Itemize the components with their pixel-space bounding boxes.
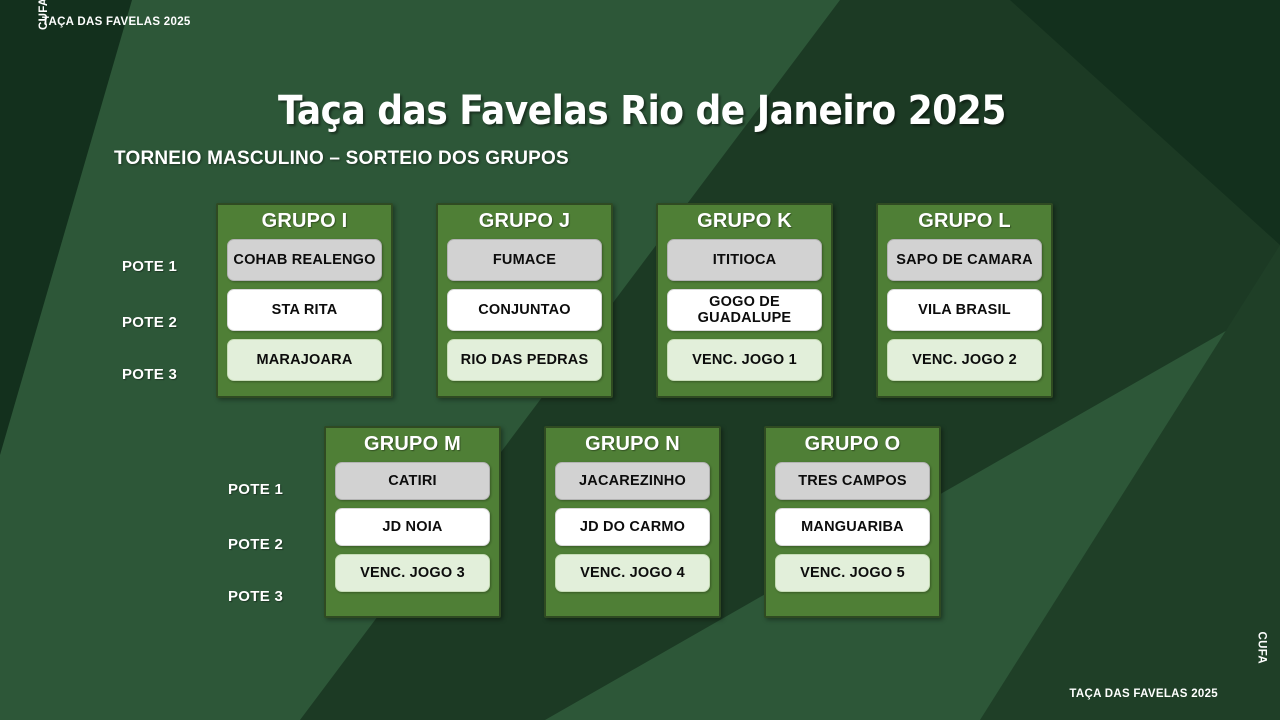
team-chip-m-pot1[interactable]: CATIRI — [335, 462, 490, 500]
team-chip-l-pot3[interactable]: VENC. JOGO 2 — [887, 339, 1042, 381]
team-chip-m-pot2[interactable]: JD NOIA — [335, 508, 490, 546]
pote-label-row1-1: POTE 1 — [122, 258, 177, 275]
team-chip-k-pot3[interactable]: VENC. JOGO 1 — [667, 339, 822, 381]
group-title-i: GRUPO I — [227, 205, 382, 239]
team-chip-o-pot2[interactable]: MANGUARIBA — [775, 508, 930, 546]
group-title-k: GRUPO K — [667, 205, 822, 239]
group-card-o[interactable]: GRUPO O TRES CAMPOS MANGUARIBA VENC. JOG… — [764, 426, 941, 618]
group-card-j[interactable]: GRUPO J FUMACE CONJUNTAO RIO DAS PEDRAS — [436, 203, 613, 398]
brand-cufa-right: CUFA — [1256, 631, 1268, 664]
pote-label-row2-2: POTE 2 — [228, 536, 283, 553]
page-subtitle: TORNEIO MASCULINO – SORTEIO DOS GRUPOS — [114, 148, 569, 170]
pote-label-row2-1: POTE 1 — [228, 481, 283, 498]
group-title-n: GRUPO N — [555, 428, 710, 462]
brand-cufa-left: CUFA — [38, 0, 50, 30]
group-title-o: GRUPO O — [775, 428, 930, 462]
team-chip-l-pot1[interactable]: SAPO DE CAMARA — [887, 239, 1042, 281]
team-chip-j-pot2[interactable]: CONJUNTAO — [447, 289, 602, 331]
group-title-j: GRUPO J — [447, 205, 602, 239]
pote-label-row1-2: POTE 2 — [122, 314, 177, 331]
group-card-l[interactable]: GRUPO L SAPO DE CAMARA VILA BRASIL VENC.… — [876, 203, 1053, 398]
pote-label-row1-3: POTE 3 — [122, 366, 177, 383]
group-card-i[interactable]: GRUPO I COHAB REALENGO STA RITA MARAJOAR… — [216, 203, 393, 398]
group-card-n[interactable]: GRUPO N JACAREZINHO JD DO CARMO VENC. JO… — [544, 426, 721, 618]
group-card-m[interactable]: GRUPO M CATIRI JD NOIA VENC. JOGO 3 — [324, 426, 501, 618]
team-chip-o-pot1[interactable]: TRES CAMPOS — [775, 462, 930, 500]
team-chip-o-pot3[interactable]: VENC. JOGO 5 — [775, 554, 930, 592]
brand-top-left: TAÇA DAS FAVELAS 2025 — [42, 16, 191, 28]
group-title-m: GRUPO M — [335, 428, 490, 462]
team-chip-k-pot1[interactable]: ITITIOCA — [667, 239, 822, 281]
page-title: Taça das Favelas Rio de Janeiro 2025 — [278, 88, 1006, 134]
team-chip-m-pot3[interactable]: VENC. JOGO 3 — [335, 554, 490, 592]
team-chip-i-pot3[interactable]: MARAJOARA — [227, 339, 382, 381]
team-chip-j-pot1[interactable]: FUMACE — [447, 239, 602, 281]
team-chip-l-pot2[interactable]: VILA BRASIL — [887, 289, 1042, 331]
team-chip-n-pot3[interactable]: VENC. JOGO 4 — [555, 554, 710, 592]
brand-bottom-right: TAÇA DAS FAVELAS 2025 — [1069, 688, 1218, 700]
pote-label-row2-3: POTE 3 — [228, 588, 283, 605]
team-chip-k-pot2[interactable]: GOGO DE GUADALUPE — [667, 289, 822, 331]
team-chip-n-pot1[interactable]: JACAREZINHO — [555, 462, 710, 500]
team-chip-j-pot3[interactable]: RIO DAS PEDRAS — [447, 339, 602, 381]
team-chip-i-pot2[interactable]: STA RITA — [227, 289, 382, 331]
group-card-k[interactable]: GRUPO K ITITIOCA GOGO DE GUADALUPE VENC.… — [656, 203, 833, 398]
team-chip-i-pot1[interactable]: COHAB REALENGO — [227, 239, 382, 281]
slide-canvas: TAÇA DAS FAVELAS 2025 CUFA TAÇA DAS FAVE… — [0, 0, 1280, 720]
team-chip-n-pot2[interactable]: JD DO CARMO — [555, 508, 710, 546]
group-title-l: GRUPO L — [887, 205, 1042, 239]
